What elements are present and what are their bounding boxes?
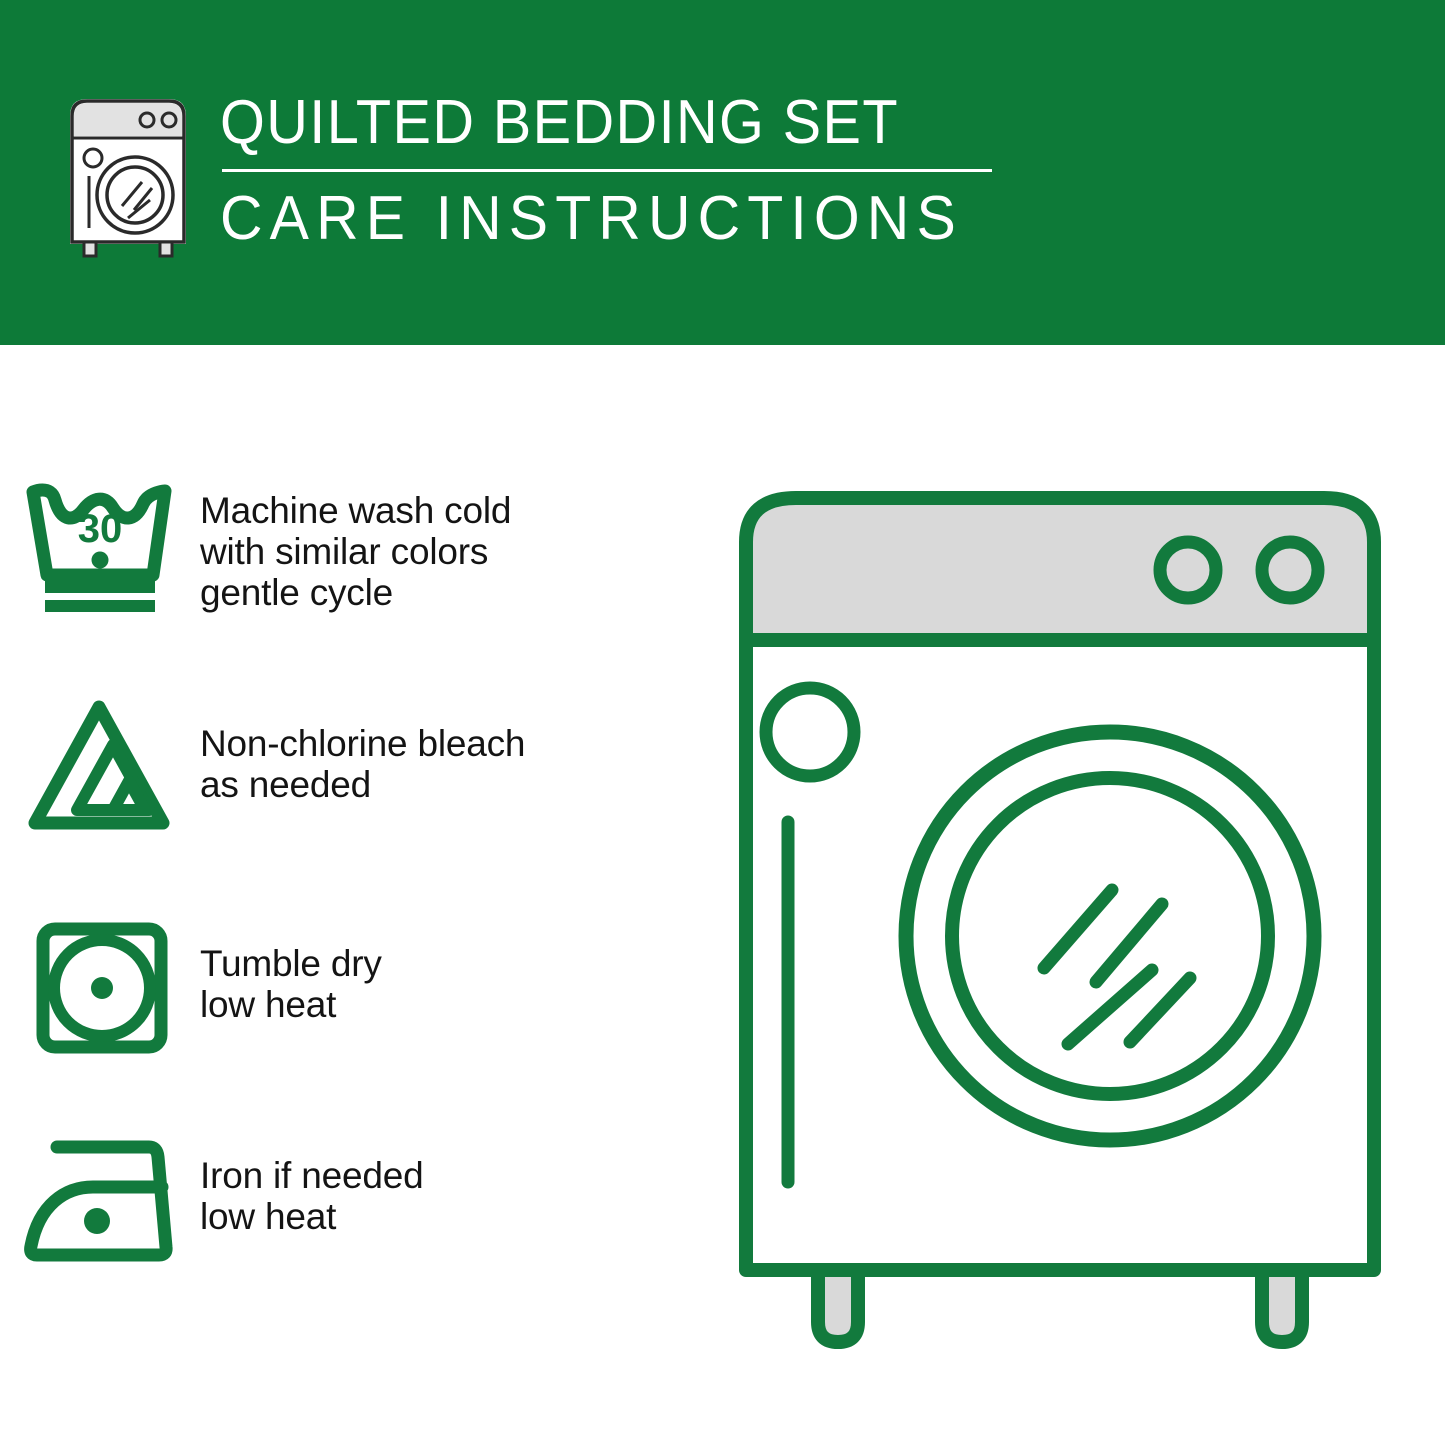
washing-machine-icon <box>62 96 194 258</box>
care-instructions-page: QUILTED BEDDING SET CARE INSTRUCTIONS 30 <box>0 0 1445 1445</box>
header-text-block: QUILTED BEDDING SET CARE INSTRUCTIONS <box>220 88 1002 252</box>
header-band: QUILTED BEDDING SET CARE INSTRUCTIONS <box>0 0 1445 345</box>
care-instruction-label: Tumble dry low heat <box>200 913 382 1025</box>
front-load-washing-machine-illustration <box>710 470 1410 1370</box>
non-chlorine-bleach-triangle-icon <box>0 693 200 843</box>
care-instruction-item: Non-chlorine bleach as needed <box>0 693 525 843</box>
care-instruction-item: Tumble dry low heat <box>0 913 382 1063</box>
care-instruction-item: Iron if needed low heat <box>0 1125 423 1275</box>
wash-tub-30-gentle-icon: 30 <box>0 470 200 620</box>
page-subtitle: CARE INSTRUCTIONS <box>220 186 963 252</box>
care-instruction-item: 30 Machine wash cold with similar colors… <box>0 470 511 620</box>
header-content: QUILTED BEDDING SET CARE INSTRUCTIONS <box>62 88 1002 258</box>
wash-temperature-value: 30 <box>78 507 123 551</box>
care-instruction-label: Machine wash cold with similar colors ge… <box>200 470 511 613</box>
title-divider <box>222 169 992 172</box>
page-title: QUILTED BEDDING SET <box>220 90 947 156</box>
iron-low-heat-icon <box>0 1125 200 1275</box>
care-instruction-label: Non-chlorine bleach as needed <box>200 693 525 805</box>
care-instruction-label: Iron if needed low heat <box>200 1125 423 1237</box>
tumble-dry-low-icon <box>0 913 200 1063</box>
